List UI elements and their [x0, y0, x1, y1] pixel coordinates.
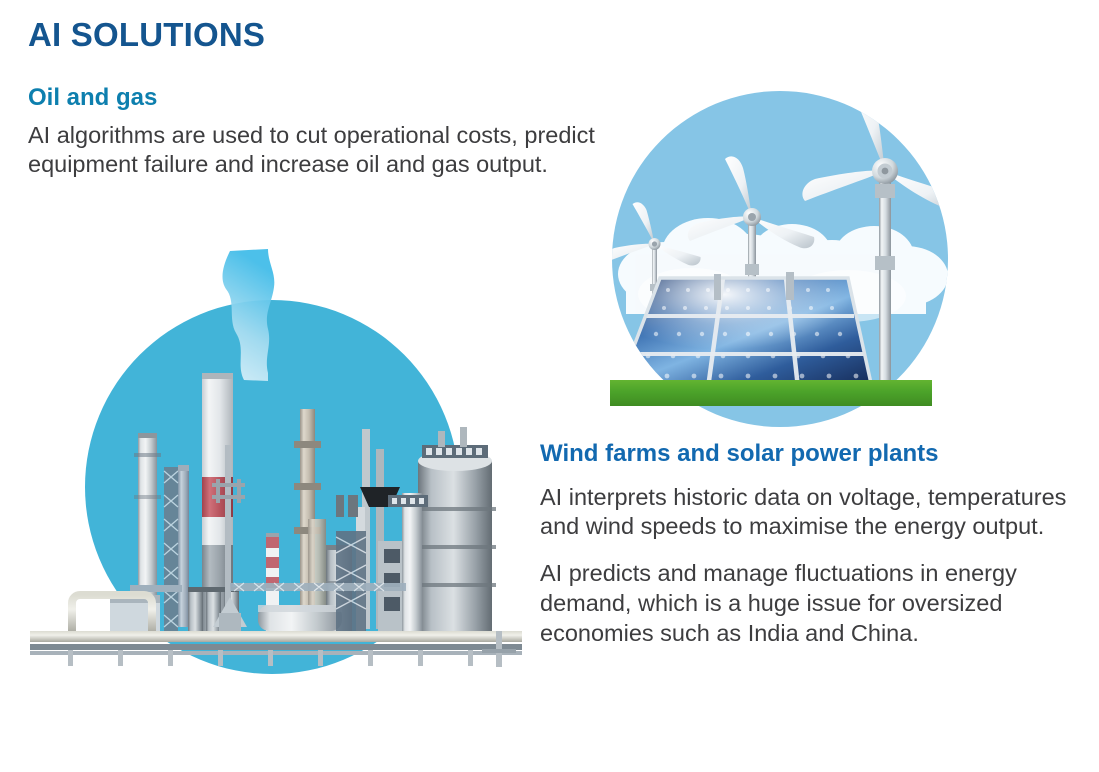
- oil-refinery-illustration: [30, 245, 530, 685]
- page-title: AI SOLUTIONS: [28, 17, 265, 53]
- wind-and-solar-paragraph-1: AI interprets historic data on voltage, …: [540, 483, 1092, 543]
- lattice-tower: [164, 467, 178, 631]
- oil-and-gas-paragraph: AI algorithms are used to cut operationa…: [28, 121, 638, 181]
- wind-and-solar-text-block: Wind farms and solar power plants AI int…: [540, 440, 1092, 649]
- wind-and-solar-paragraph-2: AI predicts and manage fluctuations in e…: [540, 559, 1092, 649]
- wind-solar-illustration: [596, 84, 946, 434]
- solar-panel-array: [618, 272, 872, 388]
- oil-and-gas-text-block: Oil and gas AI algorithms are used to cu…: [28, 84, 638, 180]
- infographic-canvas: AI SOLUTIONS: [0, 0, 1099, 772]
- right-lattice: [336, 531, 366, 633]
- wind-and-solar-heading: Wind farms and solar power plants: [540, 440, 1092, 468]
- gantry-walkway: [230, 583, 406, 591]
- distillation-tower: [414, 427, 496, 635]
- oil-and-gas-heading: Oil and gas: [28, 84, 638, 112]
